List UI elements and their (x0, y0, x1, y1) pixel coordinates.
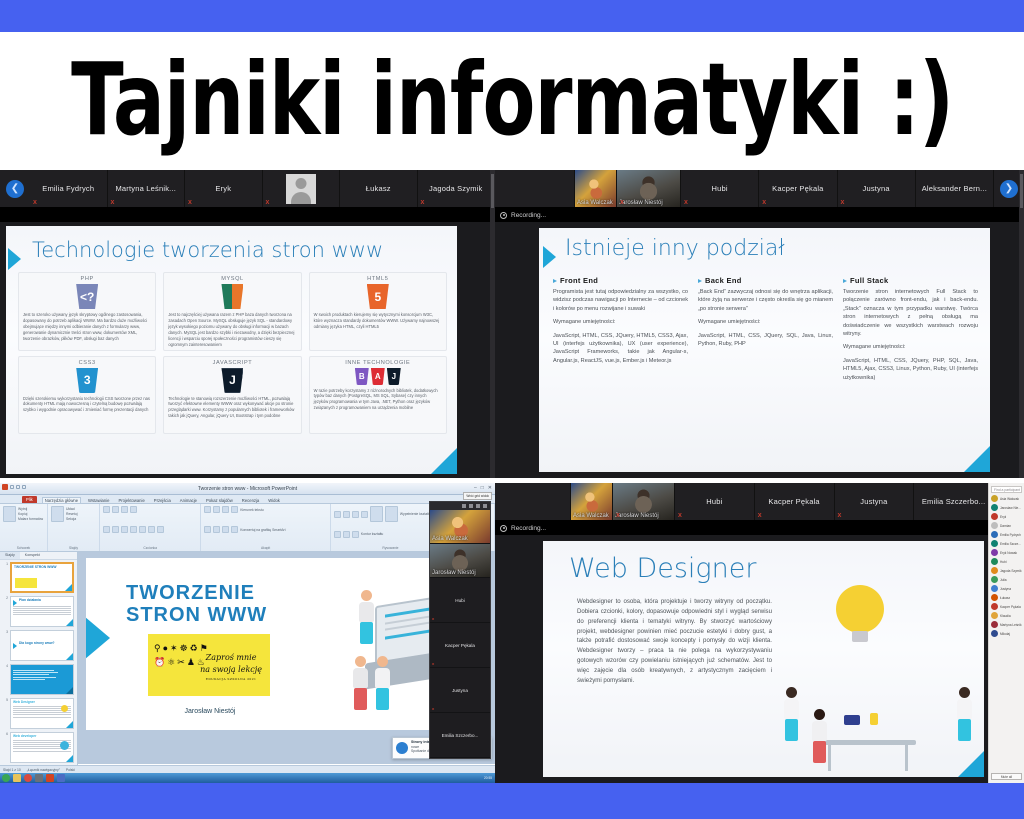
participant-tile[interactable]: Eryk x (185, 170, 263, 207)
thumbnail-slide-5[interactable]: Web Designer (10, 698, 74, 729)
scrollbar[interactable] (1019, 170, 1024, 478)
mic-muted-icon: x (33, 199, 37, 206)
tab-widok[interactable]: Widok (266, 498, 282, 503)
column-intro: Tworzenie stron internetowych Full Stack… (843, 288, 978, 338)
tab-przejscia[interactable]: Przejścia (152, 498, 173, 503)
thumbnail-slide-3[interactable]: Dla kogo strony www? (10, 630, 74, 661)
tech-card: JAVASCRIPT J Technologie te stanowią roz… (163, 356, 301, 435)
text-direction-label[interactable]: Kierunek tekstu (240, 508, 263, 512)
thumbnail-row[interactable]: 3 Dla kogo strony www? (3, 630, 74, 661)
copy-label[interactable]: Kopiuj (18, 512, 43, 516)
php-icon: <? (76, 284, 98, 309)
participant-name: Eryk (212, 184, 234, 193)
participant-name: Asia Walczak (432, 536, 468, 542)
justify-icon[interactable] (231, 526, 238, 533)
thumbnail-number: 2 (3, 596, 8, 600)
cup-icon (870, 713, 878, 725)
person-figure (957, 687, 972, 741)
minimize-icon[interactable] (462, 504, 466, 508)
slide-title-line-1: TWORZENIE (126, 582, 255, 605)
participant-tile[interactable]: Justyna x (838, 170, 916, 207)
globe-icon (60, 741, 69, 750)
roster-item[interactable]: Julia (991, 576, 1022, 583)
participant-tile[interactable]: Justyna x (835, 483, 915, 520)
screenshot-teams-podzial[interactable]: Asia Walczak Jarosław Niestój x Hubi x (495, 170, 1024, 478)
mic-muted-icon: x (616, 512, 620, 519)
roster-item[interactable]: Łukasz (991, 594, 1022, 601)
shape-fill-label[interactable]: Wypełnienie kształtu (400, 512, 431, 516)
shape-line-icon[interactable] (343, 511, 350, 518)
avatar (991, 567, 998, 574)
bold-icon[interactable] (103, 526, 110, 533)
thumbnail-row[interactable]: 6 Web developer (3, 732, 74, 763)
increase-indent-icon[interactable] (231, 506, 238, 513)
roster-item[interactable]: Emilia Szczerbowska (991, 540, 1022, 547)
roster-item[interactable]: Kacper Pękala (991, 603, 1022, 610)
column-body: „Back End” zazwyczaj odnosi się do wnętr… (698, 288, 833, 348)
bootstrap-icon: B (355, 368, 369, 385)
chevron-left-icon[interactable]: ❮ (6, 180, 24, 198)
section-label[interactable]: Sekcja (66, 517, 78, 521)
thumbnail-banner (15, 578, 37, 588)
language-indicator[interactable]: Polski (66, 768, 75, 772)
roster-item[interactable]: Eryk (991, 513, 1022, 520)
roster-item[interactable]: Jagoda Szymik (991, 567, 1022, 574)
slide-columns: Front End Programista jest tutaj odpowie… (553, 276, 978, 466)
ribbon-group-czcionka[interactable]: Czcionka (100, 504, 201, 551)
toast-subtitle: nowe (411, 745, 419, 749)
slide-technologie: Technologie tworzenia stron www PHP <? J… (6, 226, 457, 474)
slide-arrow-icon (13, 600, 17, 606)
avatar (991, 549, 998, 556)
participant-strip: ❮ Emilia Fydrych x Martyna Leśnik... x E… (0, 170, 495, 208)
explorer-icon[interactable] (13, 774, 21, 782)
more-icon[interactable] (483, 504, 487, 508)
format-painter-label[interactable]: Malarz formatów (18, 517, 43, 521)
participant-tile[interactable]: Emilia Fydrych x (30, 170, 108, 207)
tech-card-label: MYSQL (221, 276, 244, 282)
tech-card: CSS3 3 Dzięki szerokiemu wykorzystaniu t… (18, 356, 156, 435)
grid-view-icon[interactable] (476, 504, 480, 508)
mic-muted-icon: x (678, 512, 682, 519)
shape-curve-icon[interactable] (334, 531, 341, 538)
roster-item[interactable]: Mikołaj (991, 630, 1022, 637)
shape-rect-icon[interactable] (334, 511, 341, 518)
participant-name: Jagoda Szymik (426, 184, 485, 193)
mic-muted-icon: x (432, 706, 434, 711)
avatar (991, 603, 998, 610)
thumbnail-slide-6[interactable]: Web developer (10, 732, 74, 763)
bulb-icon (836, 585, 884, 633)
tab-animacje[interactable]: Animacje (178, 498, 199, 503)
mic-muted-icon: x (266, 199, 270, 206)
editor-area: Slajdy Konspekt 1 TWORZENIE STRON WWW (0, 552, 495, 765)
undo-icon[interactable] (16, 485, 20, 489)
slide-banner: Zaproś mnie na swoją lekcję EDUKACJA SZK… (148, 634, 270, 696)
participant-name: Jarosław Niestój (619, 200, 663, 206)
align-left-icon[interactable] (204, 526, 211, 533)
skills-list: JavaScript, HTML, CSS, JQuery, HTML5, CS… (553, 332, 688, 366)
person-figure (784, 687, 799, 741)
mic-muted-icon: x (762, 199, 766, 206)
tech-card-body: W razie potrzeby korzystamy z różnorodny… (314, 388, 442, 412)
cut-label[interactable]: Wytnij (18, 507, 43, 511)
slide-arrow-icon (543, 246, 556, 268)
tech-card-label: HTML5 (367, 276, 388, 282)
participant-tile[interactable]: Kacper Pękala x (430, 623, 490, 668)
participant-tile-video[interactable]: Jarosław Niestój x (617, 170, 681, 207)
quick-access-toolbar[interactable] (2, 484, 26, 490)
column-heading-text: Full Stack (850, 276, 888, 285)
recording-label: Recording... (511, 525, 546, 532)
mic-muted-icon: x (421, 199, 425, 206)
banner-icons: ⚲●✶☸♻⚑⏰⚛✂♟♨ (154, 642, 214, 686)
column-back-end: Back End „Back End” zazwyczaj odnosi się… (698, 276, 833, 466)
participant-name: Emilia Szczerbo... (440, 733, 481, 738)
ribbon-group-akapit[interactable]: Kierunek tekstu Konwertuj na grafikę Sma… (201, 504, 331, 551)
participant-tile[interactable]: Emilia Szczerbo... (430, 713, 490, 758)
participant-name: Jarosław Niestój (432, 570, 476, 576)
thumbnail-number: 3 (3, 630, 8, 634)
slide-tworzenie[interactable]: TWORZENIE STRON WWW Zaproś mnie na swoją… (86, 558, 487, 730)
teams-icon (396, 742, 408, 754)
tab-narzedzia-glowne[interactable]: Narzędzia główne (42, 497, 81, 503)
participant-tile-video[interactable]: Jarosław Niestój (430, 544, 490, 578)
shrink-font-icon[interactable] (130, 506, 137, 513)
font-name-icon[interactable] (103, 506, 110, 513)
panel-window-controls[interactable] (430, 502, 490, 510)
avatar (991, 495, 998, 502)
column-front-end: Front End Programista jest tutaj odpowie… (553, 276, 688, 466)
align-right-icon[interactable] (222, 526, 229, 533)
column-heading: Back End (698, 276, 833, 285)
participant-name: Kacper Pękala (769, 184, 826, 193)
participant-name: Kacper Pękala (443, 643, 477, 648)
participant-tile[interactable]: Hubi x (675, 483, 755, 520)
paste-icon[interactable] (3, 506, 16, 522)
font-size-icon[interactable] (112, 506, 119, 513)
skills-label: Wymagane umiejętności: (698, 318, 833, 326)
participant-name: Asia Walczak (573, 513, 609, 519)
participant-tile[interactable]: Kacper Pękala x (755, 483, 835, 520)
mute-all-button[interactable]: Mute all (991, 773, 1022, 780)
skills-label: Wymagane umiejętności: (843, 343, 978, 351)
thumbnail-slide-2[interactable]: Plan działania (10, 596, 74, 627)
teams-taskbar-icon[interactable] (57, 774, 65, 782)
participant-name: Hubi (709, 184, 731, 193)
skills-label: Wymagane umiejętności: (553, 318, 688, 326)
jquery-icon: J (387, 368, 401, 385)
participant-tile[interactable]: Martyna Leśnik... x (108, 170, 186, 207)
thumbnail-number: 6 (3, 732, 8, 736)
mic-muted-icon: x (432, 661, 434, 666)
participant-name: Justyna (450, 688, 470, 693)
layout-label[interactable]: Układ (66, 507, 78, 511)
start-icon[interactable] (2, 774, 10, 782)
thumbnail-list[interactable]: 1 TWORZENIE STRON WWW 2 (0, 560, 77, 765)
recording-indicator: Recording... (495, 208, 1024, 222)
participant-tile[interactable]: Hubi x (681, 170, 759, 207)
poster-title-area: Tajniki informatyki :) (0, 32, 1024, 170)
character-spacing-icon[interactable] (148, 526, 155, 533)
recording-indicator: Recording... (495, 521, 1024, 535)
participant-tile[interactable]: Aleksander Bern... (916, 170, 994, 207)
minimize-icon[interactable]: – (474, 485, 477, 491)
angular-icon: A (371, 368, 385, 385)
tech-card-body: W swoich produktach kierujemy się wytycz… (314, 312, 442, 330)
bulb-icon (61, 705, 68, 712)
avatar (991, 558, 998, 565)
ribbon[interactable]: Wytnij Kopiuj Malarz formatów Schowek Uk… (0, 504, 495, 552)
tab-recenzja[interactable]: Recenzja (240, 498, 261, 503)
participant-tile[interactable]: Łukasz (340, 170, 418, 207)
teams-client: Asia Walczak Jarosław Niestój x Hubi x (495, 483, 1024, 783)
participant-name: Justyna (857, 497, 890, 506)
slide-body: Webdesigner to osoba, która projektuje i… (577, 597, 772, 686)
slide-arrow-icon (13, 643, 17, 649)
tech-card-body: Jest to najczęściej używana razem z PHP … (168, 312, 296, 348)
video-feed: Jarosław Niestój (613, 483, 674, 520)
slide-arrow-icon (86, 616, 110, 660)
status-bar: Slajd 1 z 10 „Łącznik nawigacyjny” Polsk… (0, 765, 495, 773)
thumbnail-title: Dla kogo strony www? (11, 631, 73, 646)
maximize-icon[interactable]: □ (481, 485, 484, 491)
participants-roster[interactable]: Find a participant Asia Walczak Jarosław… (988, 483, 1024, 783)
close-icon[interactable]: ✕ (488, 485, 492, 491)
tech-card: MYSQL Jest to najczęściej używana razem … (163, 272, 301, 351)
numbering-icon[interactable] (213, 506, 220, 513)
tool-icon[interactable] (35, 774, 43, 782)
strikethrough-icon[interactable] (139, 526, 146, 533)
column-body: Programista jest tutaj odpowiedzialny za… (553, 288, 688, 365)
powerpoint-logo-icon (2, 484, 8, 490)
ribbon-group-slajdy[interactable]: Układ Resetuj Sekcja Slajdy (48, 504, 100, 551)
column-heading: Front End (553, 276, 688, 285)
window-controls[interactable]: – □ ✕ (474, 485, 492, 491)
font-color-icon[interactable] (157, 526, 164, 533)
shared-slide-stage: Web Designer Webdesigner to osoba, która… (543, 541, 984, 777)
meeting-status-bar (0, 208, 495, 222)
screenshot-powerpoint[interactable]: Tworzenie stron www - Microsoft PowerPoi… (0, 483, 495, 783)
tab-pokaz-slajdow[interactable]: Pokaz slajdów (204, 498, 235, 503)
teams-client: Asia Walczak Jarosław Niestój x Hubi x (495, 170, 1024, 478)
participant-tile[interactable]: Hubi x (430, 578, 490, 623)
roster-item[interactable]: Emilia Fydrych (991, 531, 1022, 538)
avatar (991, 585, 998, 592)
participant-tile-empty[interactable] (495, 170, 575, 207)
ribbon-group-label: Schowek (3, 546, 44, 551)
tech-card: PHP <? Jest to szeroko używany język skr… (18, 272, 156, 351)
window-titlebar: Tworzenie stron www - Microsoft PowerPoi… (0, 483, 495, 495)
theme-name: „Łącznik nawigacyjny” (27, 768, 60, 772)
roster-item[interactable]: Jarosław Niestój (991, 504, 1022, 511)
tech-card-body: Dzięki szerokiemu wykorzystaniu technolo… (23, 396, 151, 414)
participant-name: Martyna Leśnik... (112, 184, 179, 193)
smartart-label[interactable]: Konwertuj na grafikę SmartArt (240, 528, 285, 532)
thumbnail-corner-accent (65, 584, 72, 591)
roster-item[interactable]: Damian (991, 522, 1022, 529)
ribbon-group-label: Akapit (204, 546, 327, 551)
thumbnail-row[interactable]: 2 Plan działania (3, 596, 74, 627)
panel-tabs[interactable]: Slajdy Konspekt (0, 552, 77, 560)
grow-font-icon[interactable] (121, 506, 128, 513)
windows-taskbar[interactable]: 20:55 (0, 773, 495, 783)
align-center-icon[interactable] (213, 526, 220, 533)
tab-projektowanie[interactable]: Projektowanie (116, 498, 146, 503)
participant-name: Hubi (703, 497, 725, 506)
video-feed: Asia Walczak (430, 510, 490, 543)
column-heading-text: Back End (705, 276, 742, 285)
redo-icon[interactable] (22, 485, 26, 489)
ribbon-group-schowek[interactable]: Wytnij Kopiuj Malarz formatów Schowek (0, 504, 48, 551)
slide-podzial: Istnieje inny podział Front End Programi… (539, 228, 990, 472)
participant-tile-empty[interactable] (495, 483, 571, 520)
avatar (991, 576, 998, 583)
screenshot-grid: ❮ Emilia Fydrych x Martyna Leśnik... x E… (0, 170, 1024, 783)
recording-label: Recording... (511, 212, 546, 219)
tab-konspekt[interactable]: Konspekt (20, 552, 45, 559)
chrome-icon[interactable] (24, 774, 32, 782)
slide-title-line-2: STRON WWW (126, 604, 267, 627)
underline-icon[interactable] (121, 526, 128, 533)
quick-styles-icon[interactable] (370, 506, 383, 522)
thumbnail-slide-4[interactable] (10, 664, 74, 695)
chevron-right-icon[interactable]: ❯ (1000, 180, 1018, 198)
video-feed: Asia Walczak (575, 170, 616, 207)
slide-title: Web Designer (569, 553, 756, 584)
thumbnail-number: 5 (3, 698, 8, 702)
mysql-icon (221, 284, 243, 309)
tech-card: INNE TECHNOLOGIE B A J W razie potrzeby … (309, 356, 447, 435)
slide-author: Jarosław Niestój (154, 708, 266, 715)
participant-tile[interactable]: Kacper Pękala x (759, 170, 837, 207)
avatar (991, 531, 998, 538)
thumbnail-corner-accent (66, 687, 73, 694)
participant-tile[interactable]: Justyna x (430, 668, 490, 713)
bullet-icon (698, 279, 702, 283)
mic-muted-icon: x (758, 512, 762, 519)
roster-search-input[interactable]: Find a participant (991, 486, 1022, 493)
html5-icon: 5 (367, 284, 389, 309)
screenshot-teams-web-designer[interactable]: Asia Walczak Jarosław Niestój x Hubi x (495, 483, 1024, 783)
other-tech-icon: B A J (355, 368, 401, 385)
teams-floating-panel[interactable]: Asia Walczak Jarosław Niestój Hubi x (429, 501, 491, 759)
reset-label[interactable]: Resetuj (66, 512, 78, 516)
slide-thumbnail-panel[interactable]: Slajdy Konspekt 1 TWORZENIE STRON WWW (0, 552, 78, 765)
new-slide-icon[interactable] (51, 506, 64, 522)
person-figure (375, 656, 390, 710)
participant-tile-video[interactable]: Jarosław Niestój x (613, 483, 675, 520)
tab-plik[interactable]: Plik (22, 496, 37, 503)
roster-item[interactable]: Klaudia (991, 612, 1022, 619)
avatar (991, 630, 998, 637)
roster-item[interactable]: Hubi (991, 558, 1022, 565)
shape-star-icon[interactable] (352, 531, 359, 538)
ribbon-tabs[interactable]: Plik Narzędzia główne Wstawianie Projekt… (0, 495, 495, 504)
tab-slajdy[interactable]: Slajdy (0, 552, 20, 559)
participant-tile-video[interactable]: Asia Walczak (571, 483, 613, 520)
screenshot-teams-technologie[interactable]: ❮ Emilia Fydrych x Martyna Leśnik... x E… (0, 170, 495, 478)
participant-name: Aleksander Bern... (919, 184, 990, 193)
shared-slide-stage: Istnieje inny podział Front End Programi… (539, 228, 990, 472)
participant-tile[interactable]: x (263, 170, 341, 207)
person-figure (812, 709, 827, 763)
javascript-icon: J (221, 368, 243, 393)
roster-item[interactable]: Eryk Nowak (991, 549, 1022, 556)
column-heading: Full Stack (843, 276, 978, 285)
shape-arrow-icon[interactable] (352, 511, 359, 518)
thumbnail-row[interactable]: 1 TWORZENIE STRON WWW (3, 562, 74, 593)
participant-tile[interactable]: Jagoda Szymik x (418, 170, 496, 207)
mic-muted-icon: x (432, 616, 434, 621)
avatar (991, 612, 998, 619)
participant-tile[interactable]: Emilia Szczerbo... (914, 483, 994, 520)
avatar (991, 621, 998, 628)
thumbnail-corner-accent (66, 721, 73, 728)
save-icon[interactable] (10, 485, 14, 489)
person-figure (353, 656, 368, 710)
decrease-indent-icon[interactable] (222, 506, 229, 513)
video-feed: Asia Walczak (571, 483, 612, 520)
poster-page: Tajniki informatyki :) ❮ Emilia Fydrych … (0, 0, 1024, 819)
powerpoint-window: Tworzenie stron www - Microsoft PowerPoi… (0, 483, 495, 783)
mic-muted-icon: x (684, 199, 688, 206)
slide-counter: Slajd 1 z 10 (3, 768, 21, 772)
participant-name: Emilia Szczerbo... (919, 497, 989, 506)
shape-outline-label[interactable]: Kontur kształtu (361, 532, 383, 536)
participant-tile-video[interactable]: Asia Walczak (430, 510, 490, 544)
maximize-icon[interactable] (469, 504, 473, 508)
skills-list: JavaScript, HTML, CSS, JQuery, SQL, Java… (698, 332, 833, 349)
tech-card: HTML5 5 W swoich produktach kierujemy si… (309, 272, 447, 351)
slide-corner-accent (958, 751, 984, 777)
mic-muted-icon: x (841, 199, 845, 206)
person-figure (359, 590, 374, 644)
thumbnail-slide-1[interactable]: TWORZENIE STRON WWW (10, 562, 74, 593)
skills-list: JavaScript, HTML, CSS, JQuery, PHP, SQL,… (843, 357, 978, 382)
avatar (991, 504, 998, 511)
shape-brace-icon[interactable] (343, 531, 350, 538)
mic-muted-icon: x (838, 512, 842, 519)
roster-item[interactable]: Justyna (991, 585, 1022, 592)
slide-arrow-icon (8, 248, 21, 270)
tab-wstawianie[interactable]: Wstawianie (86, 498, 111, 503)
bullets-icon[interactable] (204, 506, 211, 513)
thumbnail-row[interactable]: 4 (3, 664, 74, 695)
participant-tile-video[interactable]: Asia Walczak (575, 170, 617, 207)
thumbnail-row[interactable]: 5 Web Designer (3, 698, 74, 729)
shadow-icon[interactable] (130, 526, 137, 533)
shape-oval-icon[interactable] (361, 511, 368, 518)
css3-icon: 3 (76, 368, 98, 393)
italic-icon[interactable] (112, 526, 119, 533)
roster-item[interactable]: Martyna Leśnik (991, 621, 1022, 628)
slide-corner-accent (964, 446, 990, 472)
video-feed: Jarosław Niestój (617, 170, 680, 207)
taskbar-clock[interactable]: 20:55 (484, 776, 492, 780)
bullet-icon (843, 279, 847, 283)
thumbnail-corner-accent (66, 619, 73, 626)
roster-item[interactable]: Asia Walczak (991, 495, 1022, 502)
slide-title: Istnieje inny podział (565, 236, 785, 261)
tech-card-label: JAVASCRIPT (213, 360, 253, 366)
powerpoint-taskbar-icon[interactable] (46, 774, 54, 782)
slide-web-designer: Web Designer Webdesigner to osoba, która… (543, 541, 984, 777)
avatar (991, 522, 998, 529)
tech-card-body: Jest to szeroko używany język skryptowy … (23, 312, 151, 342)
arrange-icon[interactable] (385, 506, 398, 522)
thumbnail-corner-accent (66, 653, 73, 660)
